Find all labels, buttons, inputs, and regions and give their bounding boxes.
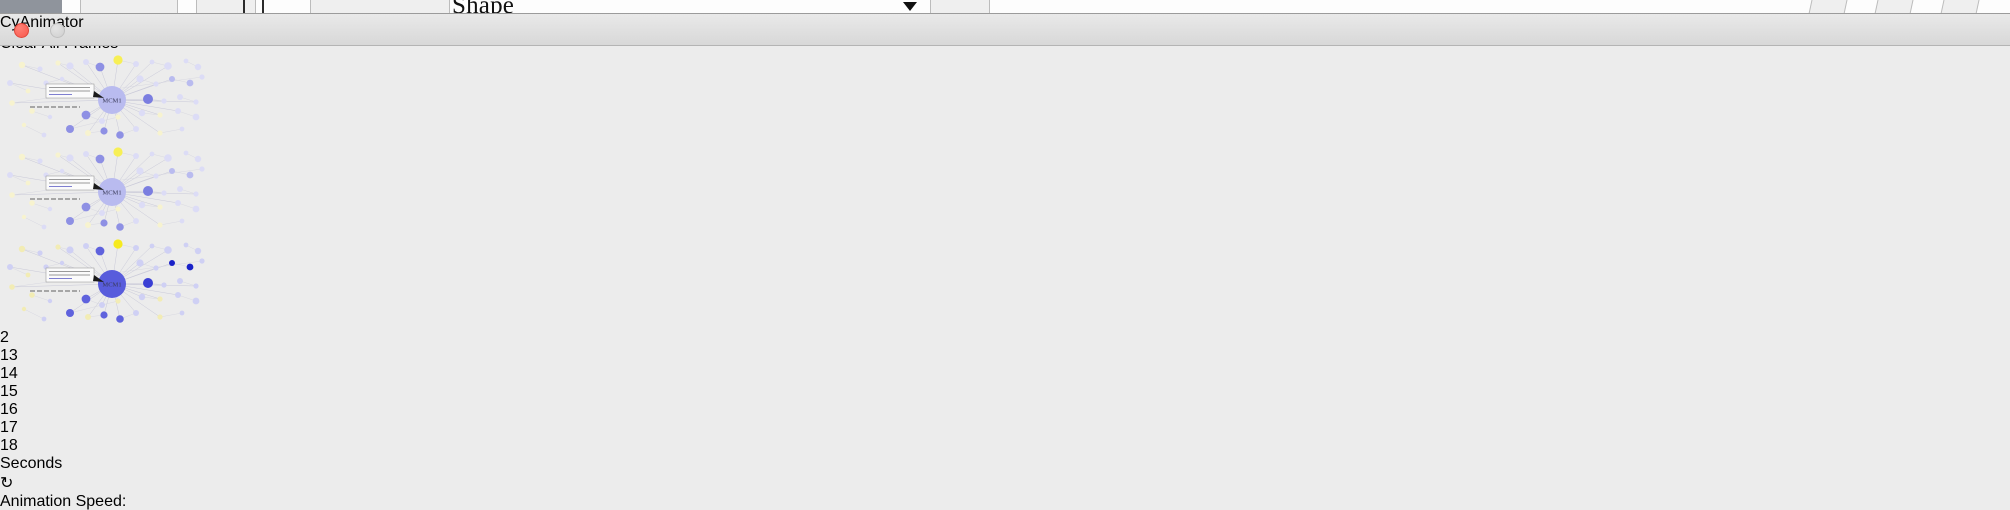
frame-thumbnail: MCM1 xyxy=(0,237,212,334)
background-arrow-icon xyxy=(903,2,917,11)
ruler-tick-label: 15 xyxy=(0,383,2010,401)
axis-title: Seconds xyxy=(0,455,2010,473)
close-button[interactable] xyxy=(14,23,29,38)
background-dark-chunk xyxy=(0,0,62,14)
frame-15s[interactable]: MCM1 xyxy=(0,145,212,237)
ruler-tick-label: 14 xyxy=(0,365,2010,383)
timeline-panel[interactable]: MCM1MCM1MCM1 2131415161718 Seconds xyxy=(0,53,2010,473)
background-tick xyxy=(243,0,245,14)
loop-button[interactable]: ↻ xyxy=(0,473,2010,493)
background-chunk xyxy=(1941,0,1980,14)
hub-node-label: MCM1 xyxy=(102,98,121,105)
loop-icon: ↻ xyxy=(0,475,13,492)
titlebar: CyAnimator xyxy=(0,14,2010,46)
minimize-button[interactable] xyxy=(50,23,65,38)
background-chunk xyxy=(1809,0,1848,14)
ruler-tick-label: 18 xyxy=(0,437,2010,455)
ruler-tick-label: 2 xyxy=(0,329,2010,347)
background-chunk xyxy=(196,0,256,14)
transport-bar: ↻ Animation Speed: xyxy=(0,473,2010,510)
ruler-tick-label: 17 xyxy=(0,419,2010,437)
ruler-tick-label: 16 xyxy=(0,401,2010,419)
network-graph: MCM1 xyxy=(0,145,212,237)
frame-thumbnail: MCM1 xyxy=(0,145,212,242)
background-chunk xyxy=(80,0,178,14)
animation-speed-label: Animation Speed: xyxy=(0,493,2010,510)
frame-13s[interactable]: MCM1 xyxy=(0,53,212,145)
transport-buttons: ↻ xyxy=(0,473,2010,493)
frames-layer: MCM1MCM1MCM1 xyxy=(0,53,2010,329)
window-title: CyAnimator xyxy=(0,14,2010,32)
hub-node-label: MCM1 xyxy=(102,282,121,289)
background-chunk xyxy=(310,0,450,14)
background-chunk xyxy=(930,0,990,14)
ruler-tick-label: 13 xyxy=(0,347,2010,365)
network-graph: MCM1 xyxy=(0,237,212,329)
background-tick xyxy=(262,0,264,14)
maximize-button[interactable] xyxy=(0,23,15,38)
frame-thumbnail: MCM1 xyxy=(0,53,212,150)
hub-node-label: MCM1 xyxy=(102,190,121,197)
background-app-strip: Shape xyxy=(0,0,2010,14)
cyanimator-window: Shape CyAnimator Clear All Frames MC xyxy=(0,0,2010,510)
background-chunk xyxy=(1875,0,1914,14)
background-app-label: Shape xyxy=(452,0,514,14)
frame-18s[interactable]: MCM1 xyxy=(0,237,212,329)
network-graph: MCM1 xyxy=(0,53,212,145)
ticks-layer: 2131415161718 xyxy=(0,329,2010,455)
